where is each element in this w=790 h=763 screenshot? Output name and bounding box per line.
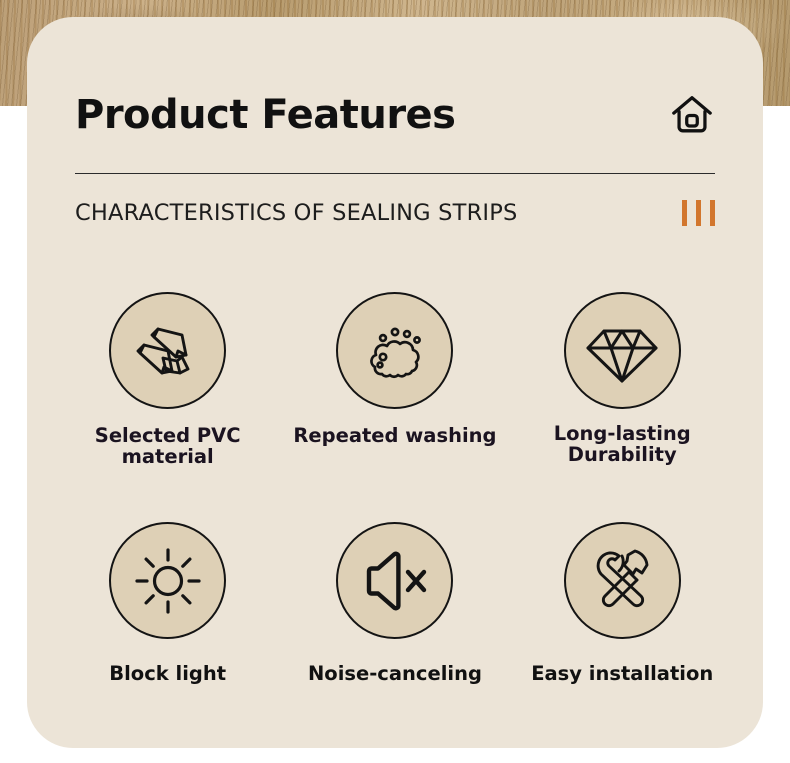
feature-label: Easy installation [531,663,713,684]
feature-easy-installation[interactable]: Easy installation [509,522,736,684]
accent-bar-1 [682,200,687,226]
product-features-card: Product Features CHARACTERISTICS OF SEAL… [27,17,763,748]
accent-bars [682,200,715,226]
feature-row-bottom: Block light Noise-canceling [54,522,736,684]
feature-long-lasting-durability[interactable]: Long-lasting Durability [509,292,736,467]
sun-icon [109,522,226,639]
foam-bubbles-icon [336,292,453,409]
header-row: Product Features [75,79,715,151]
feature-label: Long-lasting Durability [554,423,691,465]
subtitle: CHARACTERISTICS OF SEALING STRIPS [75,200,518,226]
feature-block-light[interactable]: Block light [54,522,281,684]
feature-row-top: Selected PVC material Repeated washing [54,292,736,467]
feature-pvc-material[interactable]: Selected PVC material [54,292,281,467]
speaker-mute-icon [336,522,453,639]
ingot-stack-icon [109,292,226,409]
feature-noise-canceling[interactable]: Noise-canceling [281,522,508,684]
feature-label: Selected PVC material [54,425,281,467]
page-title: Product Features [75,95,455,135]
home-icon[interactable] [669,92,715,138]
feature-repeated-washing[interactable]: Repeated washing [281,292,508,467]
feature-label: Repeated washing [293,425,496,446]
feature-label: Block light [109,663,226,684]
feature-label: Noise-canceling [308,663,482,684]
accent-bar-3 [710,200,715,226]
diamond-icon [564,292,681,409]
wrench-hammer-icon [564,522,681,639]
title-divider [75,173,715,174]
subtitle-row: CHARACTERISTICS OF SEALING STRIPS [75,193,715,233]
accent-bar-2 [696,200,701,226]
